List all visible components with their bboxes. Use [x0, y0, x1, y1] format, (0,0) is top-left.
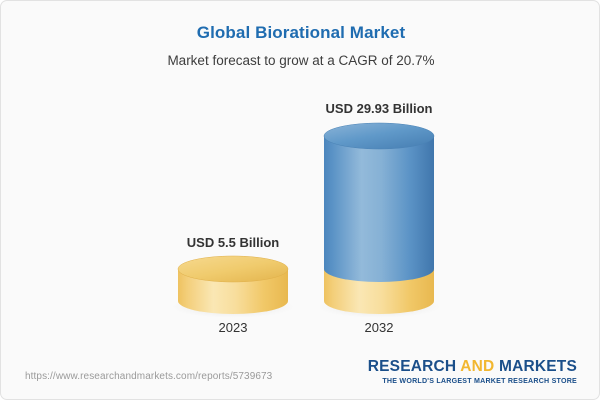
value-label-2023: USD 5.5 Billion: [173, 235, 293, 250]
source-url[interactable]: https://www.researchandmarkets.com/repor…: [25, 371, 272, 382]
chart-card: Global Biorational Market Market forecas…: [0, 0, 600, 400]
cylinder-chart: [1, 1, 600, 400]
logo-tagline: THE WORLD'S LARGEST MARKET RESEARCH STOR…: [368, 377, 577, 385]
cylinder-2032-growth-segment: [324, 136, 434, 282]
logo-wordmark: RESEARCH AND MARKETS: [368, 359, 577, 375]
logo: RESEARCH AND MARKETS THE WORLD'S LARGEST…: [368, 359, 577, 385]
cylinder-2023-top: [178, 256, 288, 282]
logo-word-research: RESEARCH: [368, 358, 457, 375]
value-label-2032: USD 29.93 Billion: [309, 101, 449, 116]
logo-word-markets: MARKETS: [499, 358, 577, 375]
cylinder-2023: [178, 256, 288, 314]
cylinder-2032: [324, 123, 434, 314]
category-label-2032: 2032: [319, 320, 439, 335]
logo-word-and: AND: [460, 358, 494, 375]
category-label-2023: 2023: [173, 320, 293, 335]
cylinder-2032-top: [324, 123, 434, 149]
